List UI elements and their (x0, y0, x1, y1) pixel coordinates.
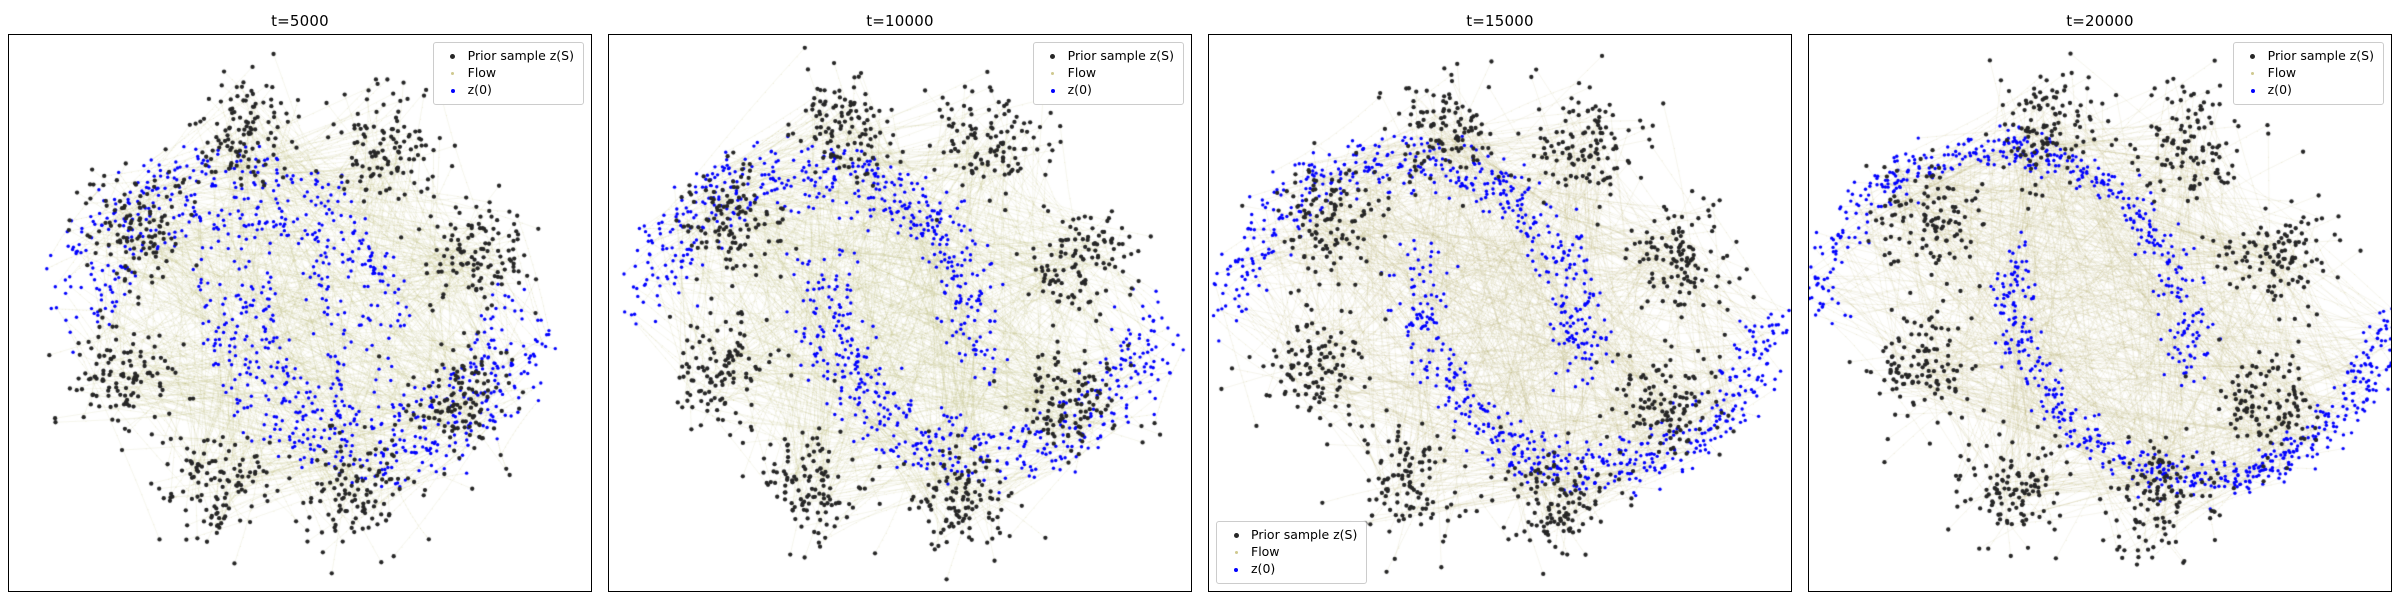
flow-dot-icon (2251, 72, 2254, 75)
legend-item-3: z(0) (440, 82, 574, 99)
scatter-plot-canvas (609, 35, 1191, 591)
legend-item-2: Flow (440, 65, 574, 82)
plot-axes: Prior sample z(S)Flowz(0) (8, 34, 592, 592)
legend-label: Prior sample z(S) (2266, 50, 2374, 63)
prior-dot-icon (1050, 54, 1055, 59)
legend-marker-icon (440, 54, 466, 59)
legend-label: z(0) (1249, 563, 1275, 576)
legend-marker-icon (440, 72, 466, 75)
z0-dot-icon (451, 89, 455, 93)
legend-label: Prior sample z(S) (466, 50, 574, 63)
prior-dot-icon (2250, 54, 2255, 59)
legend-item-3: z(0) (2240, 82, 2374, 99)
z0-dot-icon (1051, 89, 1055, 93)
prior-dot-icon (450, 54, 455, 59)
panel-3: t=15000Prior sample z(S)Flowz(0) (1200, 0, 1800, 600)
scatter-plot-canvas (9, 35, 591, 591)
legend-label: Prior sample z(S) (1066, 50, 1174, 63)
legend-marker-icon (2240, 54, 2266, 59)
plot-legend: Prior sample z(S)Flowz(0) (2233, 42, 2384, 105)
legend-label: Flow (1066, 67, 1097, 80)
legend-label: z(0) (466, 84, 492, 97)
scatter-plot-canvas (1809, 35, 2391, 591)
legend-item-2: Flow (2240, 65, 2374, 82)
plot-legend: Prior sample z(S)Flowz(0) (433, 42, 584, 105)
legend-marker-icon (1040, 89, 1066, 93)
legend-item-1: Prior sample z(S) (1223, 527, 1357, 544)
legend-marker-icon (1223, 568, 1249, 572)
plot-legend: Prior sample z(S)Flowz(0) (1216, 521, 1367, 584)
panel-title: t=15000 (1208, 8, 1792, 34)
panel-4: t=20000Prior sample z(S)Flowz(0) (1800, 0, 2400, 600)
legend-item-2: Flow (1223, 544, 1357, 561)
legend-label: Flow (466, 67, 497, 80)
legend-marker-icon (2240, 72, 2266, 75)
legend-label: Flow (2266, 67, 2297, 80)
plot-axes: Prior sample z(S)Flowz(0) (608, 34, 1192, 592)
legend-item-2: Flow (1040, 65, 1174, 82)
legend-item-1: Prior sample z(S) (440, 48, 574, 65)
flow-dot-icon (451, 72, 454, 75)
legend-item-1: Prior sample z(S) (1040, 48, 1174, 65)
legend-marker-icon (1040, 54, 1066, 59)
panel-title: t=5000 (8, 8, 592, 34)
legend-marker-icon (1040, 72, 1066, 75)
legend-marker-icon (1223, 551, 1249, 554)
legend-marker-icon (440, 89, 466, 93)
legend-item-3: z(0) (1223, 561, 1357, 578)
legend-item-1: Prior sample z(S) (2240, 48, 2374, 65)
panel-1: t=5000Prior sample z(S)Flowz(0) (0, 0, 600, 600)
prior-dot-icon (1234, 533, 1239, 538)
legend-label: Prior sample z(S) (1249, 529, 1357, 542)
flow-dot-icon (1235, 551, 1238, 554)
panel-title: t=20000 (1808, 8, 2392, 34)
z0-dot-icon (2251, 89, 2255, 93)
legend-item-3: z(0) (1040, 82, 1174, 99)
legend-label: z(0) (2266, 84, 2292, 97)
flow-dot-icon (1051, 72, 1054, 75)
z0-dot-icon (1234, 568, 1238, 572)
panel-title: t=10000 (608, 8, 1192, 34)
panel-2: t=10000Prior sample z(S)Flowz(0) (600, 0, 1200, 600)
scatter-plot-canvas (1209, 35, 1791, 591)
figure-container: t=5000Prior sample z(S)Flowz(0)t=10000Pr… (0, 0, 2400, 600)
legend-marker-icon (2240, 89, 2266, 93)
plot-axes: Prior sample z(S)Flowz(0) (1808, 34, 2392, 592)
legend-label: z(0) (1066, 84, 1092, 97)
plot-axes: Prior sample z(S)Flowz(0) (1208, 34, 1792, 592)
legend-marker-icon (1223, 533, 1249, 538)
legend-label: Flow (1249, 546, 1280, 559)
plot-legend: Prior sample z(S)Flowz(0) (1033, 42, 1184, 105)
